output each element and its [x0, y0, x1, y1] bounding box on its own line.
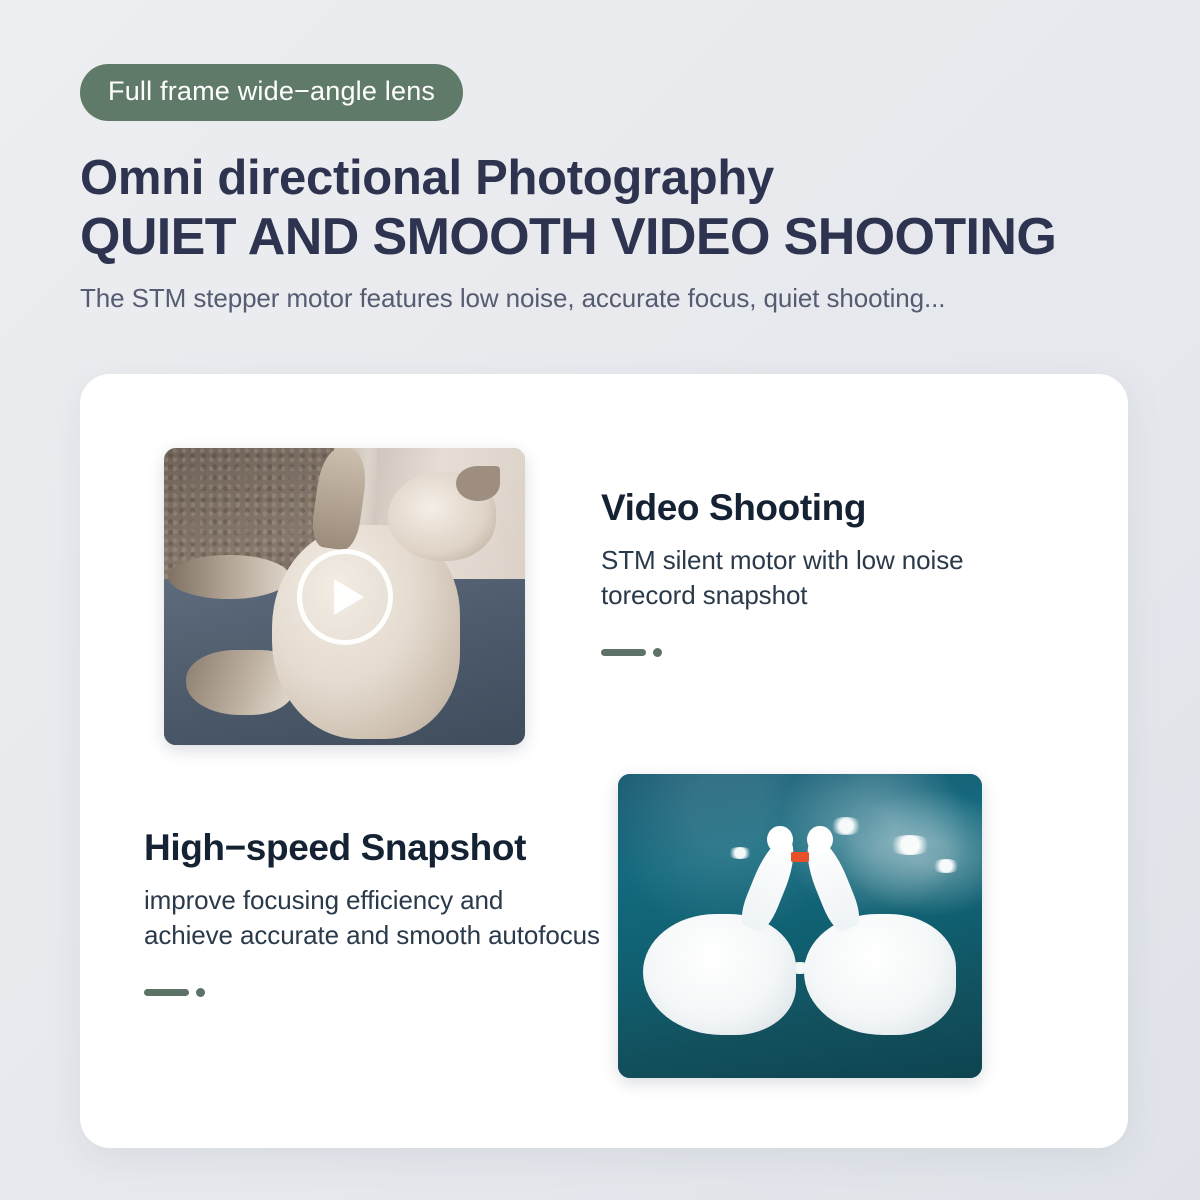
accent-bar: [601, 649, 646, 656]
accent-marker-video: [601, 648, 963, 657]
swan-right-beak: [791, 852, 809, 862]
feature-high-speed-snapshot: High−speed Snapshot improve focusing eff…: [144, 774, 1064, 1078]
swans-image-sparkle: [727, 847, 753, 859]
headline-secondary: QUIET AND SMOOTH VIDEO SHOOTING: [80, 208, 1140, 266]
header-subtitle: The STM stepper motor features low noise…: [80, 283, 1140, 314]
play-triangle: [334, 579, 364, 615]
feature-video-shooting: Video Shooting STM silent motor with low…: [164, 448, 1064, 745]
swan-left: [643, 914, 796, 1036]
accent-marker-snapshot: [144, 988, 600, 997]
play-icon[interactable]: [297, 549, 393, 645]
swans-image: [618, 774, 982, 1078]
feature-desc-video-shooting: STM silent motor with low noise torecord…: [601, 543, 963, 614]
feature-desc-line-1: STM silent motor with low noise: [601, 543, 963, 579]
feature-desc-line-2: torecord snapshot: [601, 578, 963, 614]
swan-right-head: [807, 826, 832, 853]
swans-image-sparkle: [931, 859, 961, 873]
headline-primary: Omni directional Photography: [80, 151, 1140, 206]
page-header: Full frame wide−angle lens Omni directio…: [0, 0, 1200, 314]
feature-desc-line-1: improve focusing efficiency and: [144, 883, 600, 919]
features-card: Video Shooting STM silent motor with low…: [80, 374, 1128, 1148]
photo-swans[interactable]: [618, 774, 982, 1078]
accent-bar: [144, 989, 189, 996]
badge-full-frame-lens: Full frame wide−angle lens: [80, 64, 463, 121]
accent-dot: [653, 648, 662, 657]
feature-desc-high-speed-snapshot: improve focusing efficiency and achieve …: [144, 883, 600, 954]
video-shooting-text: Video Shooting STM silent motor with low…: [601, 448, 963, 745]
feature-title-high-speed-snapshot: High−speed Snapshot: [144, 828, 600, 869]
swans-image-sparkle: [887, 835, 933, 855]
cat-image-ear: [456, 466, 499, 502]
video-thumbnail-cat[interactable]: [164, 448, 525, 745]
swans-image-sparkle: [829, 817, 863, 835]
swan-left-head: [767, 826, 792, 853]
feature-desc-line-2: achieve accurate and smooth autofocus: [144, 918, 600, 954]
high-speed-snapshot-text: High−speed Snapshot improve focusing eff…: [144, 774, 600, 1078]
feature-title-video-shooting: Video Shooting: [601, 488, 963, 529]
accent-dot: [196, 988, 205, 997]
